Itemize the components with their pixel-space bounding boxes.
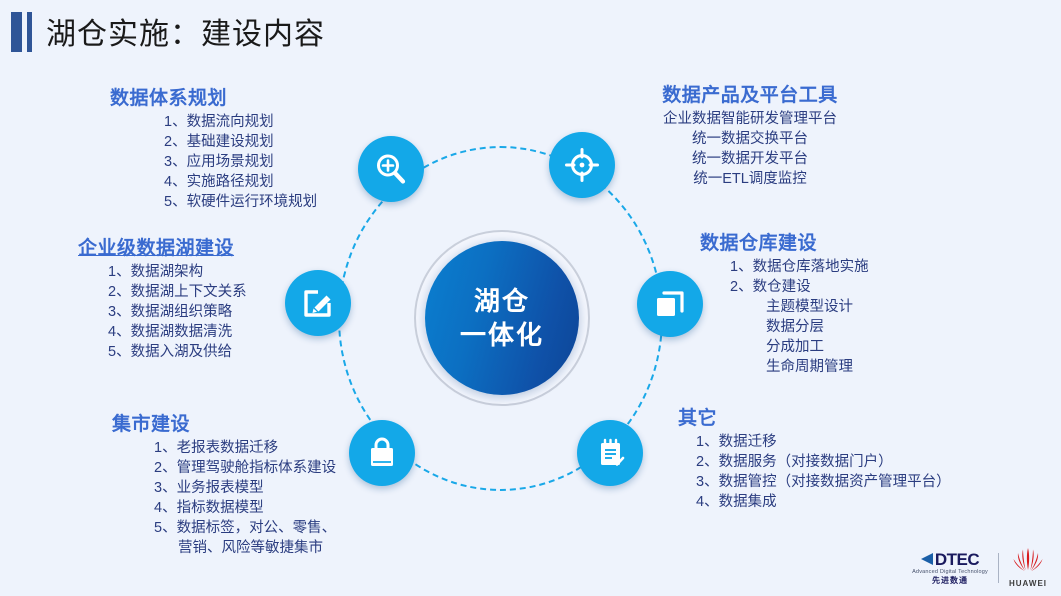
huawei-wordmark: HUAWEI [1009,580,1047,588]
block-list-warehouse: 1、数据仓库落地实施 2、数仓建设 主题模型设计 数据分层 分成加工 生命周期管… [700,257,1000,377]
list-subitem: 数据分层 [730,317,1000,337]
dtec-arrow-icon [921,553,933,565]
block-heading-other: 其它 [678,403,1008,430]
node-data-mart[interactable] [349,420,415,486]
dtec-chinese-name: 先进数通 [932,577,968,585]
block-other: 其它 1、数据迁移 2、数据服务（对接数据门户） 3、数据管控（对接数据资产管理… [678,403,1008,512]
list-item: 5、数据标签，对公、零售、 [154,518,412,538]
hub-diagram: 湖仓 一体化 [300,128,700,508]
list-subitem: 分成加工 [730,337,1000,357]
list-subitem: 生命周期管理 [730,357,1000,377]
list-item: 企业数据智能研发管理平台 [595,109,905,129]
list-subitem: 主题模型设计 [730,297,1000,317]
dtec-logo: DTEC Advanced Digital Technology 先进数通 [912,551,988,586]
core-label-line2: 一体化 [460,318,544,352]
dtec-logo-row: DTEC [921,551,979,568]
copy-layers-icon [653,287,687,321]
checklist-note-icon [593,436,627,470]
shopping-bag-icon [365,436,399,470]
huawei-flower-icon [1011,548,1045,578]
node-data-warehouse[interactable] [637,271,703,337]
crosshair-target-icon [564,147,600,183]
core-circle: 湖仓 一体化 [425,241,579,395]
list-item: 1、数据仓库落地实施 [730,257,1000,277]
block-heading-products: 数据产品及平台工具 [595,80,905,107]
list-item: 4、数据集成 [696,492,1008,512]
dtec-tagline: Advanced Digital Technology [912,570,988,576]
accent-bar-thick [11,12,22,52]
huawei-logo: HUAWEI [1009,548,1047,588]
slide-title-bar: 湖仓实施：建设内容 [0,0,1061,62]
accent-bar-thin [27,12,32,52]
core-label-line1: 湖仓 [474,284,530,318]
footer-logos: DTEC Advanced Digital Technology 先进数通 HU… [912,548,1047,588]
block-data-warehouse: 数据仓库建设 1、数据仓库落地实施 2、数仓建设 主题模型设计 数据分层 分成加… [700,228,1000,377]
node-other[interactable] [577,420,643,486]
page-title: 湖仓实施：建设内容 [46,9,325,53]
block-list-other: 1、数据迁移 2、数据服务（对接数据门户） 3、数据管控（对接数据资产管理平台）… [678,432,1008,512]
logo-divider [998,553,999,583]
list-item: 2、数仓建设 [730,277,1000,297]
list-item: 1、数据迁移 [696,432,1008,452]
block-heading-warehouse: 数据仓库建设 [700,228,1000,255]
list-item: 3、数据管控（对接数据资产管理平台） [696,472,1008,492]
magnifier-plus-icon [373,151,409,187]
node-enterprise-data-lake[interactable] [285,270,351,336]
list-item: 2、数据服务（对接数据门户） [696,452,1008,472]
node-data-products-platform-tools[interactable] [549,132,615,198]
title-accent-bars [11,12,35,52]
block-heading-planning: 数据体系规划 [110,83,410,110]
dtec-wordmark: DTEC [935,551,979,568]
node-data-system-planning[interactable] [358,136,424,202]
edit-pencil-icon [301,286,335,320]
list-item-continuation: 营销、风险等敏捷集市 [154,538,412,558]
